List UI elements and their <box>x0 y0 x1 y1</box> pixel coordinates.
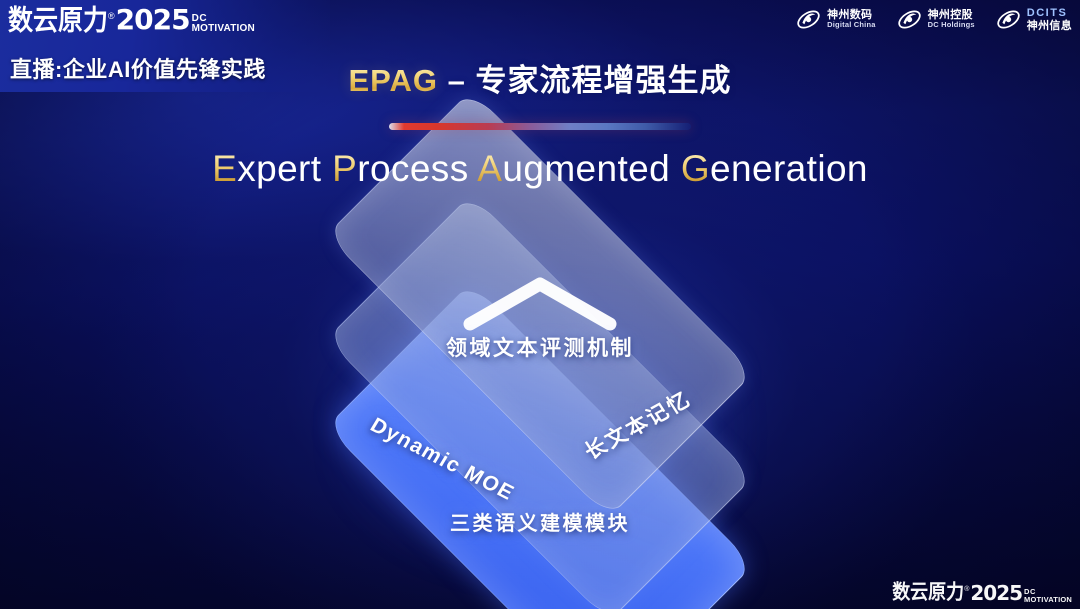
subtitle-cap-2: A <box>477 148 502 189</box>
subtitle-cap-3: G <box>681 148 710 189</box>
brand-logo-cn: 数云原力 <box>8 6 108 34</box>
brand-logo-year: 2025 <box>116 6 190 34</box>
subtitle-rest-3: eneration <box>710 148 868 189</box>
header-bar: 数云原力 ® 2025 DC MOTIVATION 直播:企业AI价值先锋实践 … <box>0 0 1080 92</box>
partner-en-dcits: DCITS <box>1027 7 1072 19</box>
swirl-logo-icon <box>896 6 923 33</box>
livestream-headline: 直播:企业AI价值先锋实践 <box>10 52 266 84</box>
footer-brand-year: 2025 <box>970 583 1022 603</box>
partner-logo-digital-china: 神州数码 Digital China <box>795 6 875 33</box>
partner-label-dc-holdings: 神州控股 DC Holdings <box>928 9 975 30</box>
partner-en-digital-china: Digital China <box>827 21 875 29</box>
partner-en-dc-holdings: DC Holdings <box>928 21 975 29</box>
brand-logo-dc: DC MOTIVATION <box>192 14 255 34</box>
subtitle-rest-2: ugmented <box>502 148 670 189</box>
layer-stack-diagram <box>290 222 790 582</box>
footer-brand-dc-line2: MOTIVATION <box>1024 596 1072 604</box>
swirl-logo-icon <box>995 6 1022 33</box>
brand-logo-dc-line2: MOTIVATION <box>192 24 255 34</box>
title-divider <box>389 123 691 130</box>
partner-label-digital-china: 神州数码 Digital China <box>827 9 875 30</box>
slide-canvas: 数云原力 ® 2025 DC MOTIVATION 直播:企业AI价值先锋实践 … <box>0 0 1080 609</box>
footer-brand-logo: 数云原力 ® 2025 DC MOTIVATION <box>892 583 1072 603</box>
subtitle-rest-1: rocess <box>357 148 468 189</box>
footer-brand-registered: ® <box>964 586 969 593</box>
footer-brand-cn: 数云原力 <box>892 583 964 603</box>
partner-logo-dcits: DCITS 神州信息 <box>995 6 1072 33</box>
partner-logo-group: 神州数码 Digital China 神州控股 DC Holdings <box>795 6 1072 33</box>
partner-label-dcits: DCITS 神州信息 <box>1027 7 1072 32</box>
subtitle-rest-0: xpert <box>237 148 321 189</box>
footer-brand-dc: DC MOTIVATION <box>1024 588 1072 603</box>
swirl-logo-icon <box>795 6 822 33</box>
subtitle-cap-1: P <box>332 148 357 189</box>
brand-logo-registered: ® <box>108 12 115 21</box>
subtitle-cap-0: E <box>212 148 237 189</box>
brand-logo: 数云原力 ® 2025 DC MOTIVATION <box>8 6 255 34</box>
page-subtitle: Expert Process Augmented Generation <box>0 148 1080 190</box>
partner-logo-dc-holdings: 神州控股 DC Holdings <box>896 6 975 33</box>
partner-cn-dcits: 神州信息 <box>1027 20 1072 32</box>
